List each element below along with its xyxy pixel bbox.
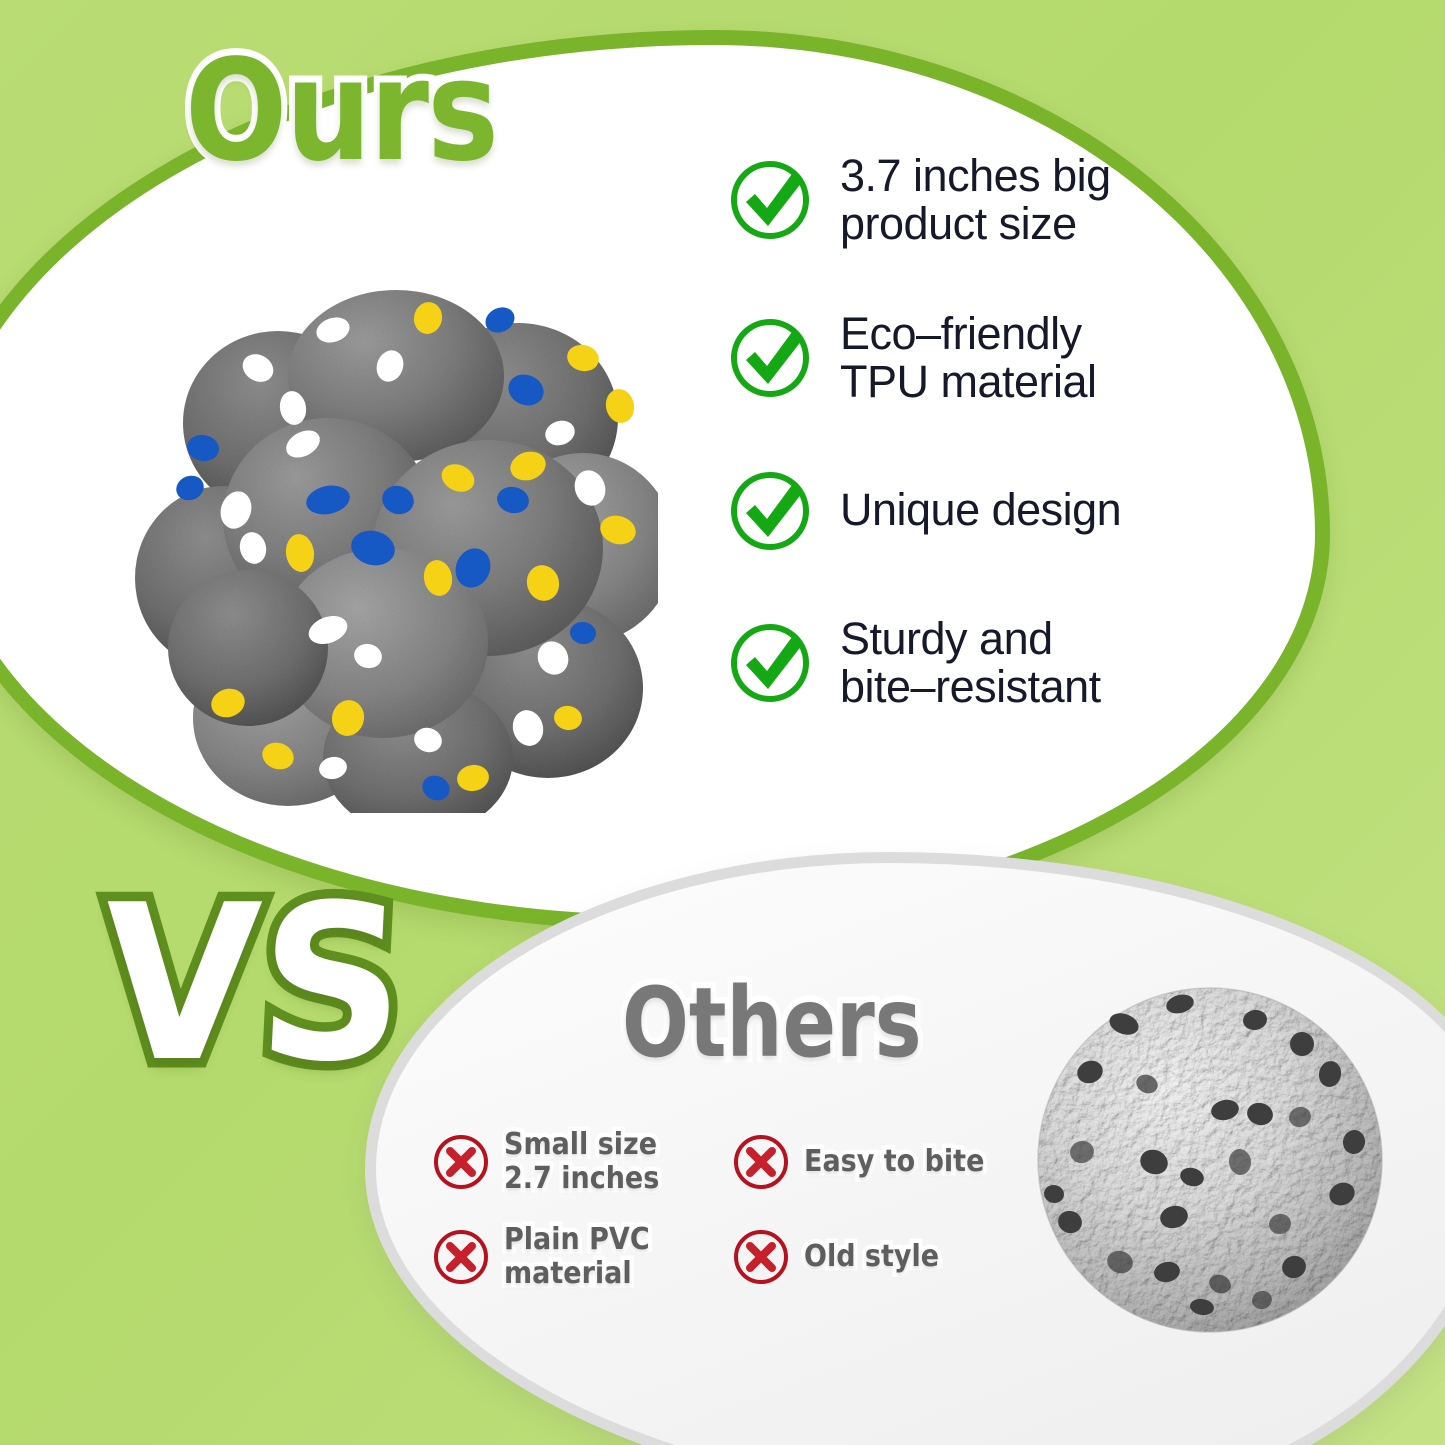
- drawback-row: Plain PVC material: [432, 1223, 732, 1290]
- check-circle-icon: [728, 316, 812, 400]
- drawback-row: Small size 2.7 inches: [432, 1128, 732, 1195]
- others-title: Others: [622, 975, 922, 1071]
- drawback-row: Old style: [732, 1223, 1012, 1290]
- check-circle-icon: [728, 469, 812, 553]
- ours-feature-list: 3.7 inches big product size Eco–friendly…: [728, 152, 1198, 711]
- others-drawback-list: Small size 2.7 inches Easy to bite Plain…: [432, 1128, 1012, 1290]
- comparison-infographic: Ours: [0, 0, 1445, 1445]
- drawback-label: Plain PVC material: [504, 1223, 650, 1290]
- feature-label: 3.7 inches big product size: [840, 152, 1111, 248]
- vs-label: VS: [97, 876, 410, 1091]
- feature-label: Eco–friendly TPU material: [840, 310, 1097, 406]
- feature-row: Unique design: [728, 469, 1198, 553]
- drawback-row: Easy to bite: [732, 1128, 1012, 1195]
- drawback-label: Easy to bite: [804, 1145, 984, 1179]
- drawback-label: Small size 2.7 inches: [504, 1128, 659, 1195]
- check-circle-icon: [728, 158, 812, 242]
- feature-label: Unique design: [840, 486, 1121, 534]
- feature-row: 3.7 inches big product size: [728, 152, 1198, 248]
- others-product-image: [1012, 962, 1412, 1362]
- feature-label: Sturdy and bite–resistant: [840, 615, 1101, 711]
- x-circle-icon: [432, 1133, 490, 1191]
- drawback-label: Old style: [804, 1240, 939, 1274]
- feature-row: Eco–friendly TPU material: [728, 310, 1198, 406]
- ours-product-image: [128, 248, 658, 813]
- x-circle-icon: [732, 1133, 790, 1191]
- ours-title: Ours: [185, 42, 497, 182]
- check-circle-icon: [728, 621, 812, 705]
- feature-row: Sturdy and bite–resistant: [728, 615, 1198, 711]
- x-circle-icon: [432, 1228, 490, 1286]
- x-circle-icon: [732, 1228, 790, 1286]
